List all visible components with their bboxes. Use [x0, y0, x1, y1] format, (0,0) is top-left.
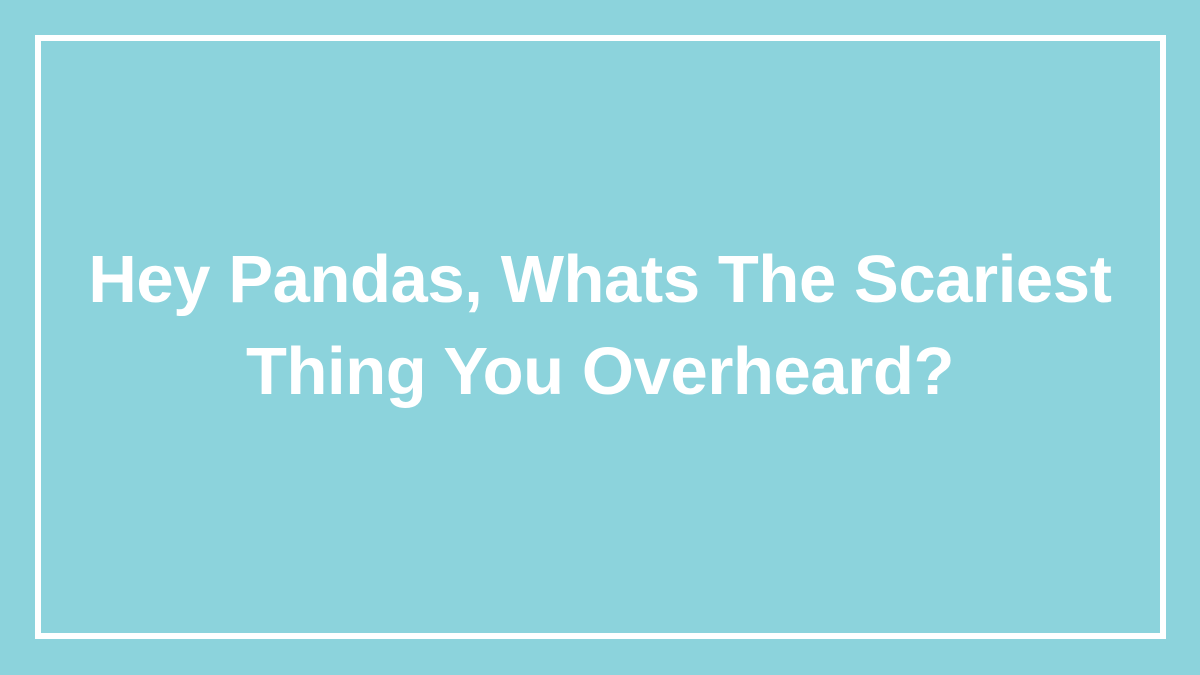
banner-content: Hey Pandas, Whats The Scariest Thing You… [0, 0, 1200, 675]
banner-title-line-2: Thing You Overheard? [60, 326, 1140, 418]
banner-title: Hey Pandas, Whats The Scariest Thing You… [60, 234, 1140, 418]
banner-card: Hey Pandas, Whats The Scariest Thing You… [0, 0, 1200, 675]
banner-title-line-1: Hey Pandas, Whats The Scariest [60, 234, 1140, 326]
